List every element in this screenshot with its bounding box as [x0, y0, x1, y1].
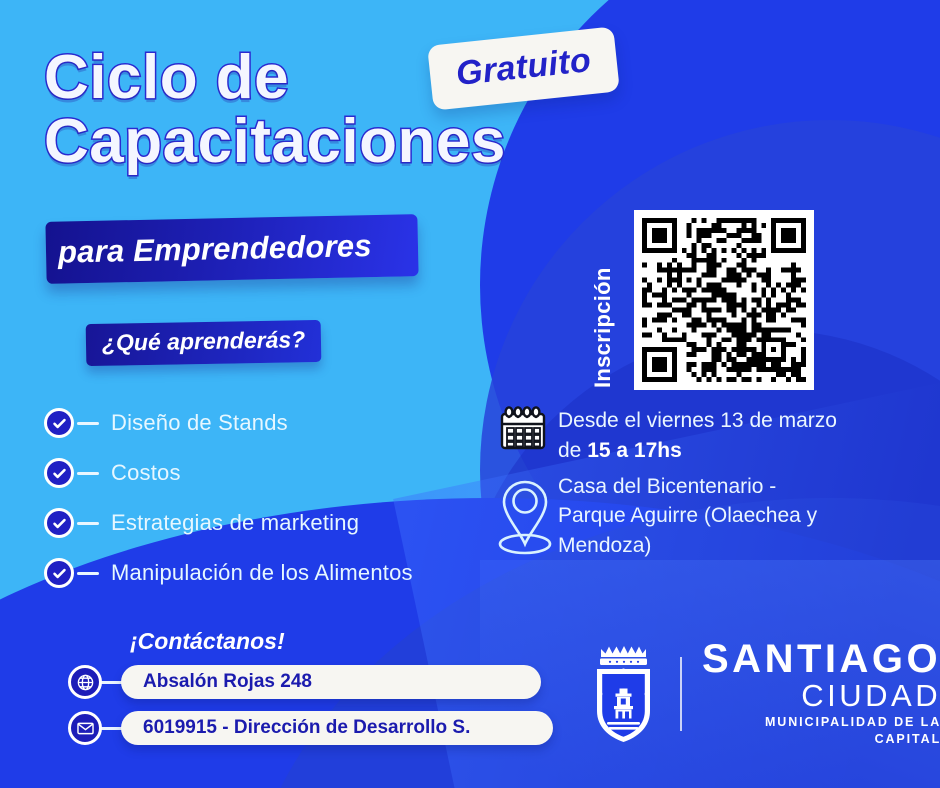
list-item: Manipulación de los Alimentos: [44, 548, 413, 598]
check-circle-icon: [44, 408, 74, 438]
contact-row-phone: 6019915 - Dirección de Desarrollo S.: [68, 711, 588, 745]
contact-connector: [101, 681, 123, 684]
bullet-connector: [77, 572, 99, 575]
contact-row-address: Absalón Rojas 248: [68, 665, 588, 699]
contact-value: Absalón Rojas 248: [143, 671, 312, 693]
mail-icon: [68, 711, 102, 745]
subtitle-label: para Emprendedores: [46, 228, 372, 271]
globe-icon: [68, 665, 102, 699]
check-circle-icon: [44, 458, 74, 488]
logo-tagline: MUNICIPALIDAD DE LA CAPITAL: [702, 714, 940, 749]
logo-wordmark: SANTIAGO CIUDAD MUNICIPALIDAD DE LA CAPI…: [702, 639, 940, 749]
bullet-connector: [77, 472, 99, 475]
contact-section: ¡Contáctanos! Absalón Rojas 248: [68, 628, 588, 757]
date-line-2-prefix: de: [558, 439, 587, 462]
detail-row-date: Desde el viernes 13 de marzo de 15 a 17h…: [496, 402, 926, 466]
topic-label: Costos: [111, 460, 181, 486]
bullet-connector: [77, 522, 99, 525]
list-item: Diseño de Stands: [44, 398, 413, 448]
location-line-1: Casa del Bicentenario -: [558, 475, 776, 498]
contact-connector: [101, 727, 123, 730]
topics-list: Diseño de Stands Costos Estrategias de m…: [44, 398, 413, 598]
inscripcion-label: Inscripción: [590, 218, 616, 388]
santiago-crest-icon: [590, 638, 664, 750]
contact-value: 6019915 - Dirección de Desarrollo S.: [143, 717, 470, 739]
check-circle-icon: [44, 558, 74, 588]
contact-pill-address[interactable]: Absalón Rojas 248: [121, 665, 541, 699]
topic-label: Manipulación de los Alimentos: [111, 560, 413, 586]
topic-label: Estrategias de marketing: [111, 510, 359, 536]
location-text: Casa del Bicentenario - Parque Aguirre (…: [558, 470, 817, 561]
bullet-connector: [77, 422, 99, 425]
logo-subname: CIUDAD: [702, 679, 940, 714]
date-line-2-strong: 15 a 17hs: [587, 439, 682, 462]
qr-code[interactable]: [642, 218, 806, 382]
detail-row-location: Casa del Bicentenario - Parque Aguirre (…: [496, 470, 926, 562]
qr-code-panel[interactable]: [634, 210, 814, 390]
topic-label: Diseño de Stands: [111, 410, 288, 436]
contact-pill-phone[interactable]: 6019915 - Dirección de Desarrollo S.: [121, 711, 553, 745]
event-details: Desde el viernes 13 de marzo de 15 a 17h…: [496, 402, 926, 566]
calendar-icon: [496, 402, 558, 456]
list-item: Costos: [44, 448, 413, 498]
location-line-2: Parque Aguirre (Olaechea y: [558, 504, 817, 527]
municipality-logo: SANTIAGO CIUDAD MUNICIPALIDAD DE LA CAPI…: [590, 638, 940, 750]
list-item: Estrategias de marketing: [44, 498, 413, 548]
contact-heading: ¡Contáctanos!: [130, 628, 588, 655]
gratuito-badge-label: Gratuito: [454, 41, 593, 94]
question-label: ¿Qué aprenderás?: [102, 326, 306, 356]
title-line-2: Capacitaciones: [44, 110, 506, 174]
logo-divider: [680, 657, 682, 731]
inscripcion-text: Inscripción: [590, 267, 615, 388]
map-pin-icon: [496, 470, 558, 562]
logo-name: SANTIAGO: [702, 639, 940, 679]
check-circle-icon: [44, 508, 74, 538]
question-pill: ¿Qué aprenderás?: [86, 320, 322, 366]
date-text: Desde el viernes 13 de marzo de 15 a 17h…: [558, 402, 837, 466]
date-line-1: Desde el viernes 13 de marzo: [558, 409, 837, 432]
location-line-3: Mendoza): [558, 534, 651, 557]
subtitle-banner: para Emprendedores: [45, 214, 418, 284]
poster-canvas: Ciclo de Capacitaciones Gratuito para Em…: [0, 0, 940, 788]
